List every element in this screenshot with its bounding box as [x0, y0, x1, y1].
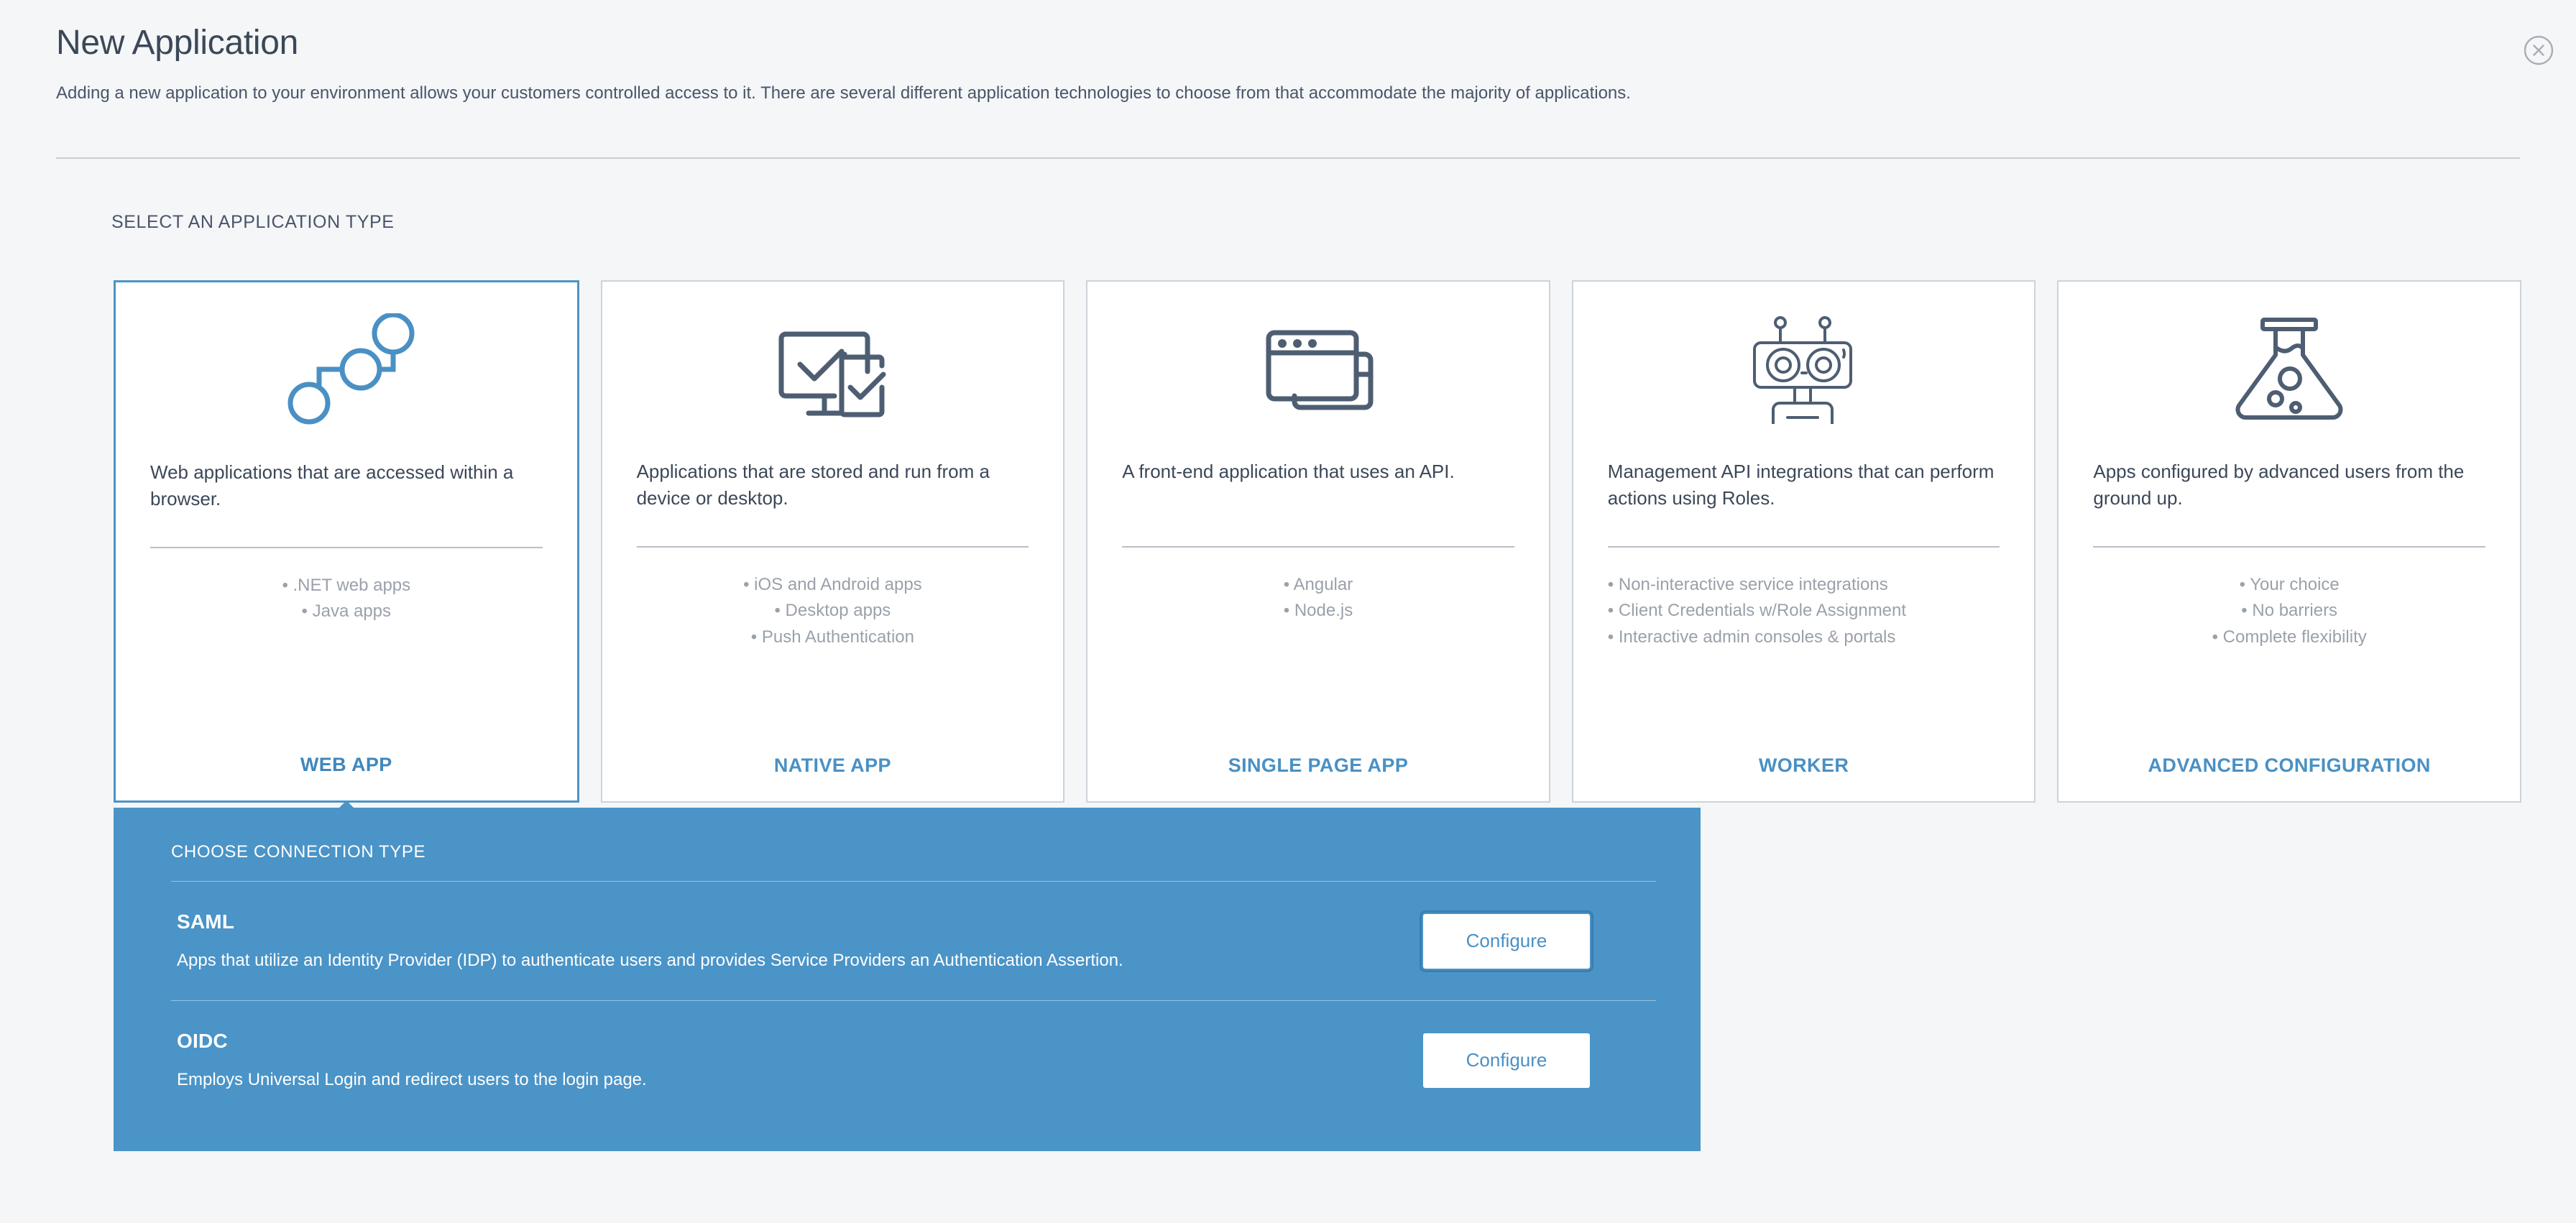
- section-label: SELECT AN APPLICATION TYPE: [111, 212, 395, 233]
- list-item: .NET web apps: [150, 573, 543, 599]
- card-cta-worker[interactable]: WORKER: [1608, 754, 2000, 777]
- close-icon[interactable]: [2521, 33, 2556, 68]
- list-item: Your choice: [2093, 572, 2485, 598]
- card-cta-native-app[interactable]: NATIVE APP: [637, 754, 1029, 777]
- list-item: No barriers: [2093, 598, 2485, 624]
- card-divider: [2093, 546, 2485, 548]
- choose-connection-type-panel: CHOOSE CONNECTION TYPE SAML Apps that ut…: [114, 808, 1701, 1151]
- card-divider: [637, 546, 1029, 548]
- list-item: Non-interactive service integrations: [1608, 572, 2000, 598]
- page-subtitle: Adding a new application to your environ…: [56, 81, 2520, 106]
- list-item: iOS and Android apps: [637, 572, 1029, 598]
- card-cta-web-app[interactable]: WEB APP: [150, 754, 543, 776]
- browser-windows-icon: [1122, 303, 1514, 440]
- card-bullet-list: Your choice No barriers Complete flexibi…: [2093, 572, 2485, 740]
- connection-name: SAML: [177, 910, 1394, 933]
- card-cta-single-page-app[interactable]: SINGLE PAGE APP: [1122, 754, 1514, 777]
- app-type-card-native-app[interactable]: Applications that are stored and run fro…: [601, 280, 1065, 803]
- connection-description: Employs Universal Login and redirect use…: [177, 1069, 1394, 1091]
- page-title: New Application: [56, 24, 2520, 63]
- application-type-card-grid: Web applications that are accessed withi…: [114, 280, 2521, 803]
- flask-icon: [2093, 303, 2485, 440]
- card-divider: [150, 547, 543, 548]
- list-item: Desktop apps: [637, 598, 1029, 624]
- robot-icon: [1608, 303, 2000, 440]
- app-type-card-worker[interactable]: Management API integrations that can per…: [1572, 280, 2036, 803]
- list-item: Java apps: [150, 599, 543, 624]
- app-type-card-advanced-configuration[interactable]: Apps configured by advanced users from t…: [2057, 280, 2521, 803]
- list-item: Client Credentials w/Role Assignment: [1608, 598, 2000, 624]
- list-item: Interactive admin consoles & portals: [1608, 624, 2000, 650]
- connection-name: OIDC: [177, 1030, 1394, 1053]
- card-description: Apps configured by advanced users from t…: [2093, 458, 2485, 514]
- page-header: New Application Adding a new application…: [56, 24, 2520, 106]
- list-item: Push Authentication: [637, 624, 1029, 650]
- app-type-card-web-app[interactable]: Web applications that are accessed withi…: [114, 280, 579, 803]
- header-divider: [56, 157, 2520, 159]
- connection-text: SAML Apps that utilize an Identity Provi…: [177, 910, 1423, 972]
- network-nodes-icon: [150, 304, 543, 440]
- new-application-page: New Application Adding a new application…: [0, 0, 2576, 1223]
- list-item: Node.js: [1122, 598, 1514, 624]
- card-bullet-list: Non-interactive service integrations Cli…: [1608, 572, 2000, 740]
- card-description: A front-end application that uses an API…: [1122, 458, 1514, 514]
- card-bullet-list: .NET web apps Java apps: [150, 573, 543, 739]
- connection-description: Apps that utilize an Identity Provider (…: [177, 949, 1394, 972]
- list-item: Angular: [1122, 572, 1514, 598]
- card-description: Applications that are stored and run fro…: [637, 458, 1029, 514]
- card-description: Management API integrations that can per…: [1608, 458, 2000, 514]
- configure-button-oidc[interactable]: Configure: [1423, 1033, 1590, 1088]
- connection-text: OIDC Employs Universal Login and redirec…: [177, 1030, 1423, 1091]
- connection-row-oidc: OIDC Employs Universal Login and redirec…: [151, 1001, 1663, 1120]
- card-description: Web applications that are accessed withi…: [150, 459, 543, 515]
- panel-title: CHOOSE CONNECTION TYPE: [151, 836, 1663, 881]
- card-bullet-list: iOS and Android apps Desktop apps Push A…: [637, 572, 1029, 740]
- list-item: Complete flexibility: [2093, 624, 2485, 650]
- card-bullet-list: Angular Node.js: [1122, 572, 1514, 740]
- card-divider: [1608, 546, 2000, 548]
- configure-button-saml[interactable]: Configure: [1423, 914, 1590, 969]
- desktop-mobile-check-icon: [637, 303, 1029, 440]
- card-cta-advanced-configuration[interactable]: ADVANCED CONFIGURATION: [2093, 754, 2485, 777]
- app-type-card-single-page-app[interactable]: A front-end application that uses an API…: [1086, 280, 1550, 803]
- card-divider: [1122, 546, 1514, 548]
- connection-row-saml: SAML Apps that utilize an Identity Provi…: [151, 882, 1663, 1000]
